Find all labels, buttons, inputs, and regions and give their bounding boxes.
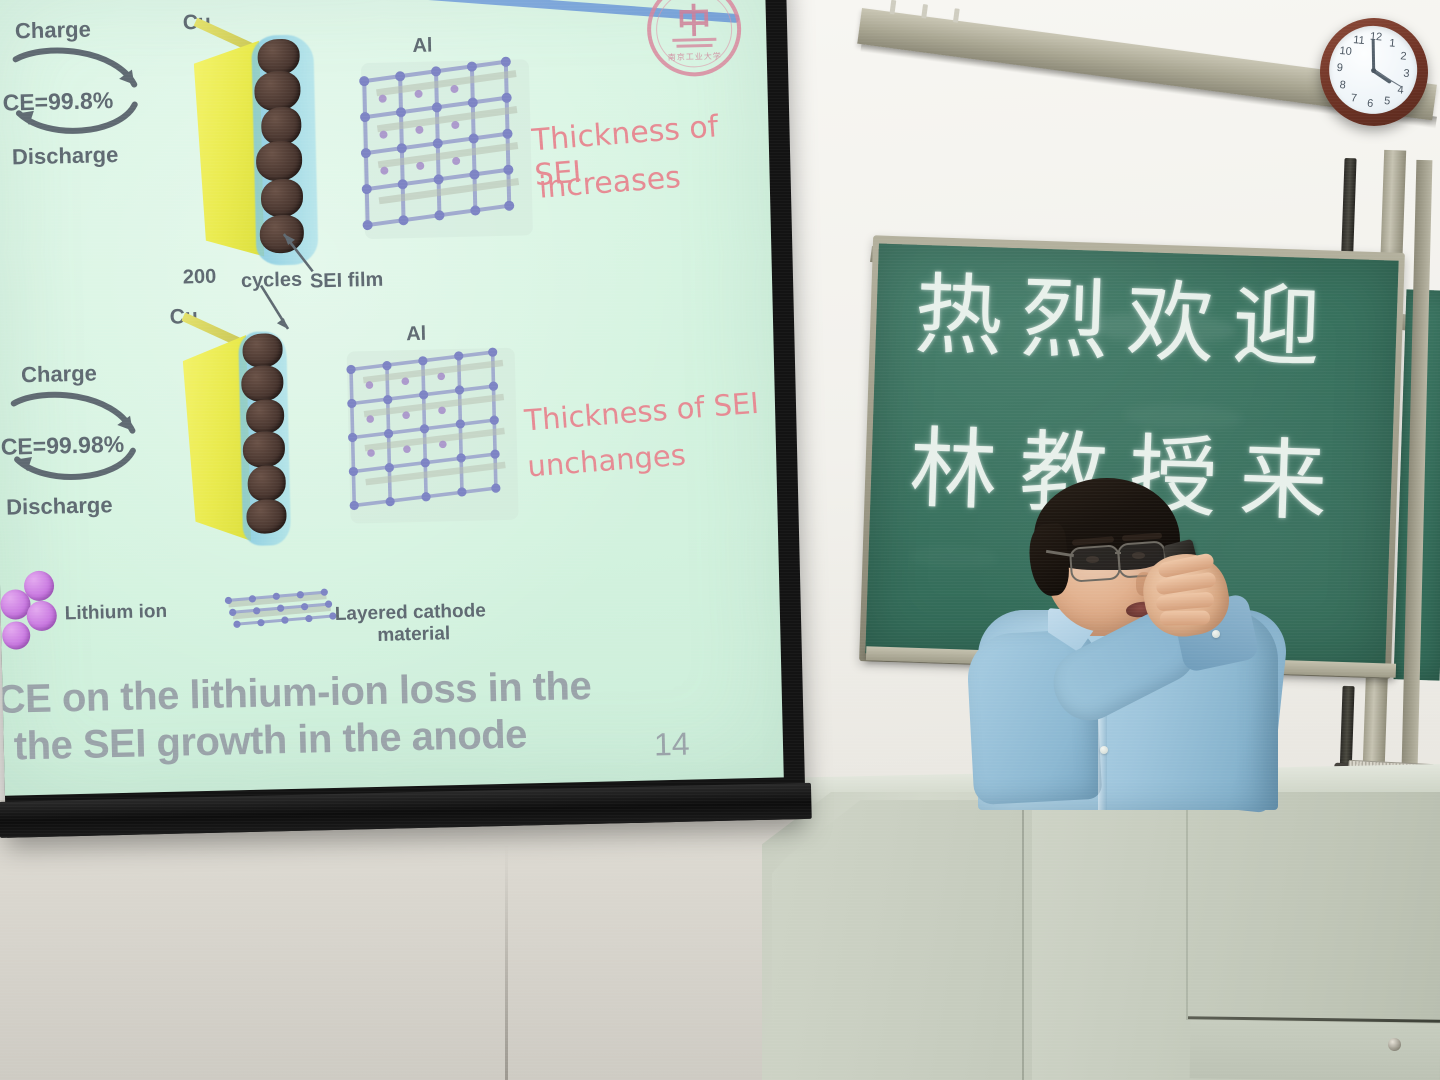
eyeglasses-left-lens xyxy=(1069,544,1121,582)
panel-top-cycle-arrows xyxy=(5,38,158,157)
clock-numeral: 2 xyxy=(1400,50,1407,62)
panel-top-al-label: Al xyxy=(412,35,433,58)
clock-numeral: 1 xyxy=(1389,37,1396,49)
clock-numeral: 7 xyxy=(1350,92,1357,104)
wall-seam xyxy=(505,845,508,1080)
blackboard-line-1: 热烈欢迎 xyxy=(913,271,1340,373)
legend-cathode-label-line1: Layered cathode xyxy=(335,600,486,626)
sei-pointer-arrow-up xyxy=(278,227,319,274)
clock-numeral: 5 xyxy=(1384,95,1391,107)
university-seal-icon: 中 南京工业大学 xyxy=(646,0,742,77)
sei-pointer-arrow-down xyxy=(255,283,296,334)
projection-screen: 中 南京工业大学 Charge CE=99.8% Discharge Cu xyxy=(0,0,806,838)
classroom-photo: 12 1 2 3 4 5 6 7 8 9 10 11 热烈欢迎 xyxy=(0,0,1440,1080)
presenter-hair-side xyxy=(1026,522,1071,598)
legend-lithium-ion-label: Lithium ion xyxy=(64,601,167,625)
clock-numeral: 9 xyxy=(1336,62,1343,74)
seal-glyph: 中 xyxy=(676,0,711,43)
slide-caption-line2: the SEI growth in the anode xyxy=(13,712,527,769)
clock-numeral: 8 xyxy=(1339,79,1346,91)
projected-slide: 中 南京工业大学 Charge CE=99.8% Discharge Cu xyxy=(0,0,784,796)
panel-bottom-lattice xyxy=(343,343,538,542)
lectern-cabinet-door[interactable] xyxy=(1190,1020,1440,1080)
eyeglasses-bridge xyxy=(1115,552,1121,554)
clock-numeral: 3 xyxy=(1403,67,1410,79)
sei-film-label: SEI film xyxy=(310,269,384,294)
cycles-count: 200 xyxy=(183,266,217,290)
clock-numeral: 10 xyxy=(1339,45,1352,58)
wall-clock: 12 1 2 3 4 5 6 7 8 9 10 11 xyxy=(1315,13,1432,130)
panel-top-lattice xyxy=(356,55,551,254)
legend-cathode-label-line2: material xyxy=(377,623,450,647)
slide-page-number: 14 xyxy=(654,726,690,764)
cabinet-lock-icon[interactable] xyxy=(1388,1038,1401,1051)
panel-bottom-callout-line1: Thickness of SEI xyxy=(523,386,760,438)
clock-second-hand xyxy=(1373,69,1402,87)
clock-numeral: 6 xyxy=(1367,98,1374,110)
clock-minute-hand xyxy=(1371,39,1374,70)
panel-bottom-callout-line2: unchanges xyxy=(526,438,687,484)
lectern-front-face xyxy=(772,800,1032,1080)
seal-caption: 南京工业大学 xyxy=(668,50,722,62)
presenter xyxy=(930,480,1330,810)
wall-lower xyxy=(0,800,800,1080)
panel-bottom-al-label: Al xyxy=(406,323,427,346)
clock-numeral: 11 xyxy=(1353,34,1365,47)
clock-center-pin xyxy=(1370,67,1375,72)
legend-cathode-swatch xyxy=(222,582,343,642)
panel-bottom-cycle-arrows xyxy=(3,382,156,503)
